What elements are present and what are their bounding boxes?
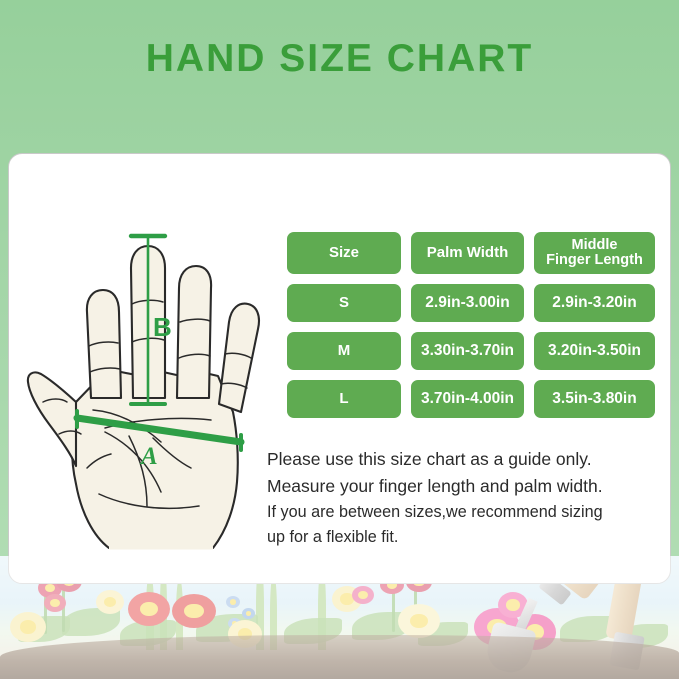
title-bar: HAND SIZE CHART	[0, 28, 679, 90]
table-header-middle-finger-length: Middle Finger Length	[534, 232, 655, 274]
table-row: L 3.70in-4.00in 3.5in-3.80in	[287, 380, 655, 418]
photo-fade-overlay	[0, 556, 679, 679]
size-guide-note: Please use this size chart as a guide on…	[267, 446, 667, 550]
table-header-row: Size Palm Width Middle Finger Length	[287, 232, 655, 274]
cell-middle-finger-length-l: 3.5in-3.80in	[534, 380, 655, 418]
table-header-size: Size	[287, 232, 401, 274]
cell-size-m: M	[287, 332, 401, 370]
page-title: HAND SIZE CHART	[146, 37, 534, 81]
measure-b-label: B	[153, 312, 172, 342]
garden-photo-strip	[0, 556, 679, 679]
size-chart-card: B A Size Palm Width Middle Finger Length…	[8, 153, 671, 584]
note-line-2: Measure your finger length and palm widt…	[267, 473, 667, 500]
cell-middle-finger-length-m: 3.20in-3.50in	[534, 332, 655, 370]
ring-finger	[177, 266, 211, 398]
header-middle-line1: Middle	[572, 237, 618, 253]
note-line-1: Please use this size chart as a guide on…	[267, 446, 667, 473]
hand-measurement-diagram: B A	[13, 176, 283, 571]
cell-middle-finger-length-s: 2.9in-3.20in	[534, 284, 655, 322]
header-middle-line2: Finger Length	[546, 252, 643, 268]
table-row: S 2.9in-3.00in 2.9in-3.20in	[287, 284, 655, 322]
note-line-4: up for a flexible fit.	[267, 525, 667, 550]
pinky-finger	[219, 304, 259, 412]
table-header-palm-width: Palm Width	[411, 232, 524, 274]
cell-palm-width-s: 2.9in-3.00in	[411, 284, 524, 322]
cell-palm-width-m: 3.30in-3.70in	[411, 332, 524, 370]
note-line-3: If you are between sizes,we recommend si…	[267, 500, 667, 525]
cell-size-l: L	[287, 380, 401, 418]
table-row: M 3.30in-3.70in 3.20in-3.50in	[287, 332, 655, 370]
measure-a-label: A	[139, 443, 158, 470]
size-table: Size Palm Width Middle Finger Length S 2…	[287, 232, 655, 428]
cell-size-s: S	[287, 284, 401, 322]
cell-palm-width-l: 3.70in-4.00in	[411, 380, 524, 418]
thumb	[28, 372, 76, 466]
